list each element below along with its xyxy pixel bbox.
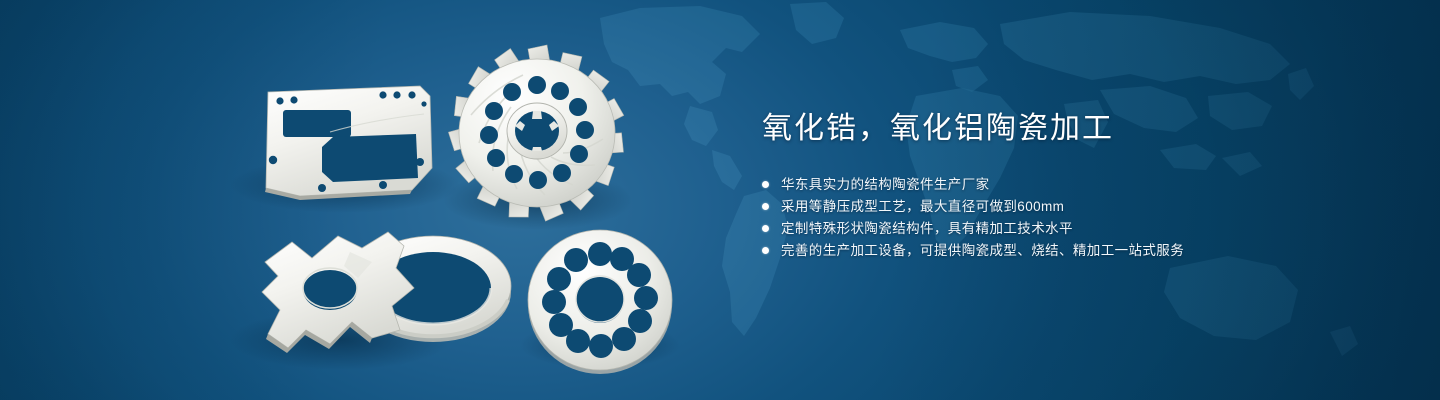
bullet-dot-icon — [762, 225, 769, 232]
list-item: 华东具实力的结构陶瓷件生产厂家 — [762, 174, 1382, 195]
list-item: 完善的生产加工设备，可提供陶瓷成型、烧结、精加工一站式服务 — [762, 240, 1382, 261]
feature-text: 华东具实力的结构陶瓷件生产厂家 — [781, 174, 990, 195]
product-photo-group — [0, 0, 720, 400]
hero-banner: 氧化锆，氧化铝陶瓷加工 华东具实力的结构陶瓷件生产厂家 采用等静压成型工艺，最大… — [0, 0, 1440, 400]
feature-text: 采用等静压成型工艺，最大直径可做到600mm — [781, 196, 1064, 217]
ceramic-perforated-disc-part — [528, 230, 672, 374]
bullet-dot-icon — [762, 247, 769, 254]
bullet-dot-icon — [762, 203, 769, 210]
list-item: 定制特殊形状陶瓷结构件，具有精加工技术水平 — [762, 218, 1382, 239]
feature-list: 华东具实力的结构陶瓷件生产厂家 采用等静压成型工艺，最大直径可做到600mm 定… — [762, 174, 1382, 261]
list-item: 采用等静压成型工艺，最大直径可做到600mm — [762, 196, 1382, 217]
banner-copy: 氧化锆，氧化铝陶瓷加工 华东具实力的结构陶瓷件生产厂家 采用等静压成型工艺，最大… — [762, 108, 1382, 262]
ceramic-plate-part — [265, 86, 432, 200]
feature-text: 定制特殊形状陶瓷结构件，具有精加工技术水平 — [781, 218, 1073, 239]
feature-text: 完善的生产加工设备，可提供陶瓷成型、烧结、精加工一站式服务 — [781, 240, 1184, 261]
bullet-dot-icon — [762, 181, 769, 188]
page-title: 氧化锆，氧化铝陶瓷加工 — [762, 108, 1382, 150]
